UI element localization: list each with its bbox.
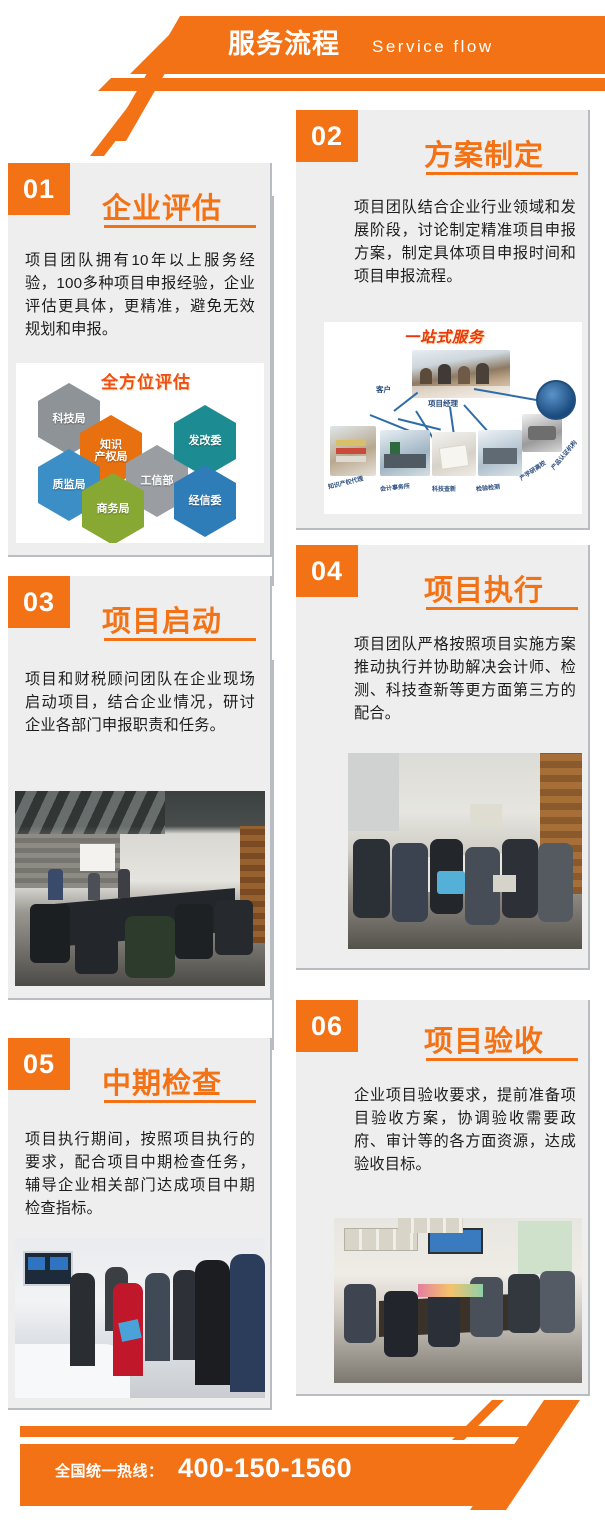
step-figure-3 <box>15 791 265 986</box>
os-node-search <box>432 432 476 476</box>
one-stop-diagram-title: 一站式服务 <box>404 326 484 347</box>
hex-node-label: 经信委 <box>189 495 222 507</box>
step-number-badge-3: 03 <box>8 576 70 628</box>
os-node-ip <box>330 426 376 476</box>
step-body-6: 企业项目验收要求，提前准备项目验收方案，协调验收需要政府、审计等的各方面资源，达… <box>354 1084 576 1176</box>
step-title-rule-2 <box>426 172 578 175</box>
step-title-2: 方案制定 <box>424 132 544 174</box>
connector-spine-1 <box>272 196 296 586</box>
step-figure-4 <box>348 753 582 949</box>
service-flow-infographic: 服务流程 Service flow 01 企业评估 项目团队拥有10年以上服务经… <box>0 0 605 1538</box>
hex-node-label: 科技局 <box>53 413 86 425</box>
step-number-badge-5: 05 <box>8 1038 70 1090</box>
step-figure-2: 一站式服务 客户 项目经理 <box>324 322 582 514</box>
step-number-badge-1: 01 <box>8 163 70 215</box>
os-label-pm: 项目经理 <box>428 398 458 409</box>
page-title: 服务流程 <box>228 22 340 66</box>
step-card-5[interactable]: 05 中期检查 项目执行期间，按照项目执行的要求，配合项目中期检查任务，辅导企业… <box>8 1038 272 1410</box>
os-certification-seal <box>536 380 576 420</box>
step-body-4: 项目团队严格按照项目实施方案推动执行并协助解决会计师、检测、科技查新等更方面第三… <box>354 633 576 725</box>
step-title-4: 项目执行 <box>424 567 544 609</box>
os-arrow <box>393 392 418 412</box>
step-title-6: 项目验收 <box>424 1018 544 1060</box>
header-accent-stripe <box>98 78 605 91</box>
hex-node-label: 质监局 <box>53 479 86 491</box>
step-body-1: 项目团队拥有10年以上服务经验，100多种项目申报经验，企业评估更具体，更精准，… <box>25 249 255 341</box>
hex-node-label: 工信部 <box>141 475 174 487</box>
step-figure-5 <box>15 1238 265 1398</box>
step-title-rule-5 <box>104 1100 256 1103</box>
hotline-label: 全国统一热线： <box>55 1460 164 1481</box>
step-title-rule-1 <box>104 225 256 228</box>
step-title-rule-6 <box>426 1058 578 1061</box>
step-title-rule-3 <box>104 638 256 641</box>
hex-node-label: 发改委 <box>189 435 222 447</box>
page-subtitle: Service flow <box>372 33 494 61</box>
step-title-3: 项目启动 <box>102 598 222 640</box>
step-body-3: 项目和财税顾问团队在企业现场启动项目，结合企业情况，研讨企业各部门申报职责和任务… <box>25 668 255 737</box>
step-card-6[interactable]: 06 项目验收 企业项目验收要求，提前准备项目验收方案，协调验收需要政府、审计等… <box>296 1000 590 1396</box>
step-figure-1: 全方位评估 科技局 知识 产权局 质监局 工信部 商务局 发改委 经信委 <box>16 363 264 543</box>
header-banner-bar <box>130 16 605 74</box>
step-figure-6 <box>334 1218 582 1383</box>
step-number-badge-4: 04 <box>296 545 358 597</box>
step-card-4[interactable]: 04 项目执行 项目团队严格按照项目实施方案推动执行并协助解决会计师、检测、科技… <box>296 545 590 970</box>
step-body-2: 项目团队结合企业行业领域和发展阶段，讨论制定精准项目申报方案，制定具体项目申报时… <box>354 196 576 288</box>
os-node-label: 科技查新 <box>432 484 456 493</box>
step-number-badge-6: 06 <box>296 1000 358 1052</box>
step-body-5: 项目执行期间，按照项目执行的要求，配合项目中期检查任务，辅导企业相关部门达成项目… <box>25 1128 255 1220</box>
os-node-testing <box>478 430 522 476</box>
os-node-label: 知识产权代理 <box>327 473 364 490</box>
hotline-number[interactable]: 400-150-1560 <box>178 1453 352 1484</box>
os-node-label: 会计事务所 <box>380 481 411 493</box>
step-title-1: 企业评估 <box>102 185 222 227</box>
os-node-label: 检验检测 <box>476 482 501 493</box>
hex-node-label: 商务局 <box>97 503 130 515</box>
hex-node-label: 知识 产权局 <box>95 439 128 463</box>
step-card-3[interactable]: 03 项目启动 项目和财税顾问团队在企业现场启动项目，结合企业情况，研讨企业各部… <box>8 576 272 1000</box>
step-card-2[interactable]: 02 方案制定 项目团队结合企业行业领域和发展阶段，讨论制定精准项目申报方案，制… <box>296 110 590 530</box>
step-title-rule-4 <box>426 607 578 610</box>
step-card-1[interactable]: 01 企业评估 项目团队拥有10年以上服务经验，100多种项目申报经验，企业评估… <box>8 163 272 557</box>
page-footer: 全国统一热线： 400-150-1560 <box>0 1408 605 1538</box>
hex-diagram-title: 全方位评估 <box>101 368 191 393</box>
os-node-accounting <box>380 430 430 476</box>
os-label-customer: 客户 <box>376 384 391 395</box>
connector-spine-2 <box>272 660 296 1050</box>
step-number-badge-2: 02 <box>296 110 358 162</box>
step-title-5: 中期检查 <box>102 1060 222 1102</box>
